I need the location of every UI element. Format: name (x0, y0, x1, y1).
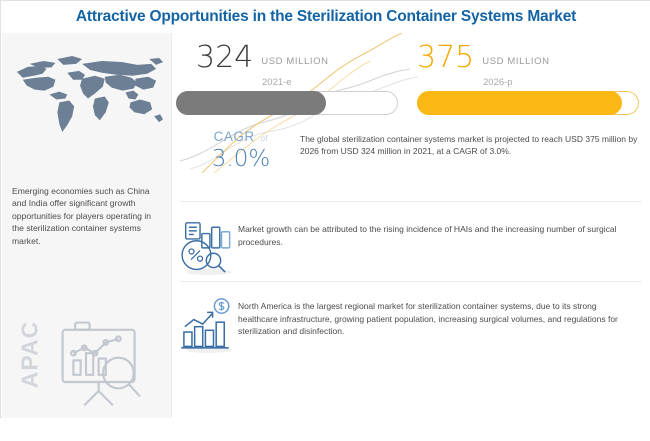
lead-paragraph: The global sterilization container syste… (300, 133, 638, 158)
cagr-label-line: CAGRof (188, 129, 294, 144)
cagr-block: CAGRof 3.0% (188, 129, 294, 172)
kpi-current: 324USD MILLION 2021-e (196, 43, 329, 88)
kpi-current-period: 2021-e (262, 77, 329, 88)
page-title: Attractive Opportunities in the Steriliz… (76, 8, 576, 26)
fact-text-growth: Market growth can be attributed to the r… (238, 221, 630, 248)
infographic-frame: Attractive Opportunities in the Steriliz… (0, 0, 650, 418)
kpi-current-unit: USD MILLION (261, 56, 328, 67)
market-size-bars (172, 91, 650, 121)
kpi-forecast-period: 2026-p (483, 77, 550, 88)
cagr-label: CAGR (214, 129, 255, 144)
bar-fill-current (176, 91, 326, 115)
cagr-value: 3.0% (188, 146, 294, 172)
report-bar-chart-percent-magnifier-icon (180, 221, 238, 273)
world-map-icon (8, 51, 166, 143)
cagr-connector: of (261, 134, 269, 143)
page-title-bar: Attractive Opportunities in the Steriliz… (1, 1, 650, 33)
kpi-current-value: 324 (196, 43, 253, 73)
region-label: APAC (17, 309, 44, 401)
sidebar-description: Emerging economies such as China and Ind… (12, 185, 164, 247)
kpi-forecast: 375USD MILLION 2026-p (417, 43, 550, 88)
cagr-row: CAGRof 3.0% The global sterilization con… (172, 129, 650, 191)
growth-bar-chart-dollar-icon (180, 298, 238, 350)
bar-fill-forecast (417, 91, 622, 115)
region-highlight: APAC (2, 291, 172, 441)
bar-track-forecast (417, 91, 639, 115)
fact-row-region: North America is the largest regional ma… (172, 298, 650, 350)
bar-track-current (176, 91, 398, 115)
fact-text-region: North America is the largest regional ma… (238, 298, 630, 338)
fact-row-growth: Market growth can be attributed to the r… (172, 221, 650, 273)
main-panel: 324USD MILLION 2021-e 375USD MILLION 202… (172, 33, 650, 418)
divider-bottom (180, 281, 642, 282)
sidebar: Emerging economies such as China and Ind… (2, 33, 172, 418)
divider-top (180, 201, 642, 202)
kpi-forecast-unit: USD MILLION (482, 56, 549, 67)
presentation-chart-magnifier-icon (50, 309, 158, 419)
kpi-forecast-value: 375 (417, 43, 474, 73)
